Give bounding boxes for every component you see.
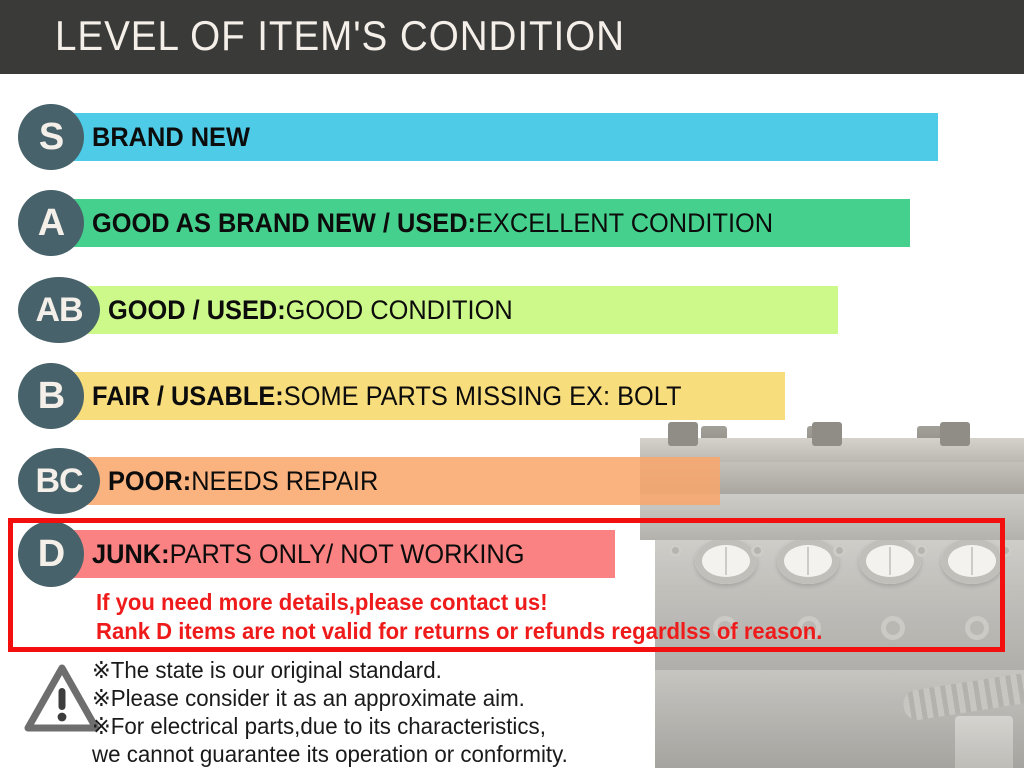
rank-badge-a: A: [18, 190, 84, 256]
header-bar: LEVEL OF ITEM'S CONDITION: [0, 0, 1024, 74]
rank-label-detail: GOOD CONDITION: [286, 295, 513, 326]
rank-label-detail: NEEDS REPAIR: [191, 466, 378, 497]
rank-label-bold: BRAND NEW: [92, 122, 250, 153]
rank-label-a: GOOD AS BRAND NEW / USED: EXCELLENT COND…: [92, 199, 773, 247]
note-line-4: we cannot guarantee its operation or con…: [92, 740, 568, 768]
note-line-3: ※For electrical parts,due to its charact…: [92, 712, 568, 740]
rank-label-s: BRAND NEW: [92, 113, 250, 161]
rank-label-ab: GOOD / USED: GOOD CONDITION: [108, 286, 513, 334]
rank-badge-bc: BC: [18, 448, 100, 514]
note-line-2: ※Please consider it as an approximate ai…: [92, 684, 568, 712]
rank-badge-ab: AB: [18, 277, 100, 343]
warning-line-1: If you need more details,please contact …: [96, 588, 822, 617]
warning-line-2: Rank D items are not valid for returns o…: [96, 617, 822, 646]
rank-label-bold: GOOD AS BRAND NEW / USED:: [92, 208, 476, 239]
condition-rank-list: SBRAND NEWAGOOD AS BRAND NEW / USED: EXC…: [0, 0, 1024, 768]
rank-label-detail: SOME PARTS MISSING EX: BOLT: [284, 381, 682, 412]
rank-label-bold: FAIR / USABLE:: [92, 381, 284, 412]
footer-notes: ※The state is our original standard. ※Pl…: [92, 656, 568, 768]
rank-label-bold: GOOD / USED:: [108, 295, 286, 326]
rank-label-bc: POOR: NEEDS REPAIR: [108, 457, 378, 505]
warning-triangle-icon: [24, 662, 100, 734]
note-line-1: ※The state is our original standard.: [92, 656, 568, 684]
page-title: LEVEL OF ITEM'S CONDITION: [55, 12, 625, 60]
rank-badge-b: B: [18, 363, 84, 429]
rank-label-detail: EXCELLENT CONDITION: [476, 208, 773, 239]
rank-label-bold: POOR:: [108, 466, 191, 497]
rank-d-warning-text: If you need more details,please contact …: [96, 588, 822, 646]
rank-badge-s: S: [18, 104, 84, 170]
rank-label-b: FAIR / USABLE: SOME PARTS MISSING EX: BO…: [92, 372, 681, 420]
